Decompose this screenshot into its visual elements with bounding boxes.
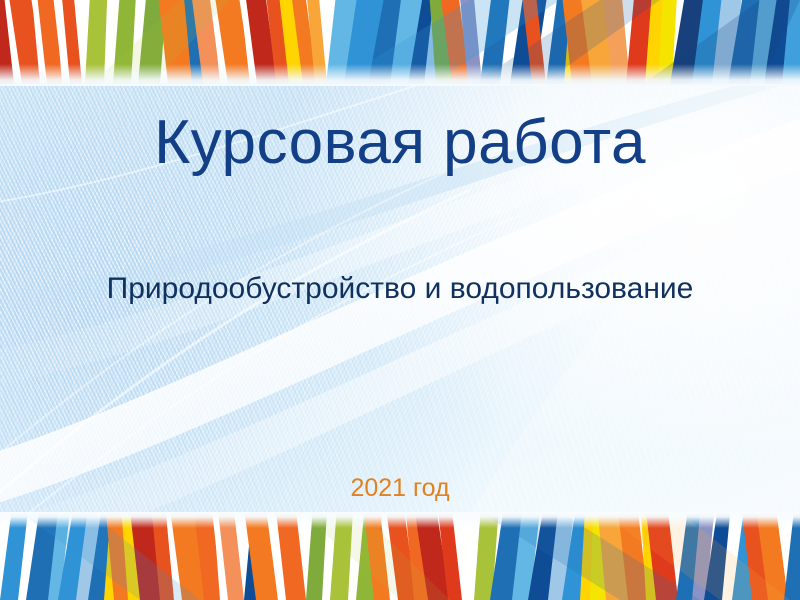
slide-subtitle: Природообустройство и водопользование <box>0 272 800 305</box>
slide-title: Курсовая работа <box>0 112 800 174</box>
decor-band-top <box>0 0 800 86</box>
decor-band-bottom-shards <box>0 512 800 600</box>
slide-year: 2021 год <box>0 475 800 503</box>
decor-band-top-shards <box>0 0 800 86</box>
decor-band-bottom <box>0 512 800 600</box>
presentation-title-slide: Курсовая работа Природообустройство и во… <box>0 0 800 600</box>
